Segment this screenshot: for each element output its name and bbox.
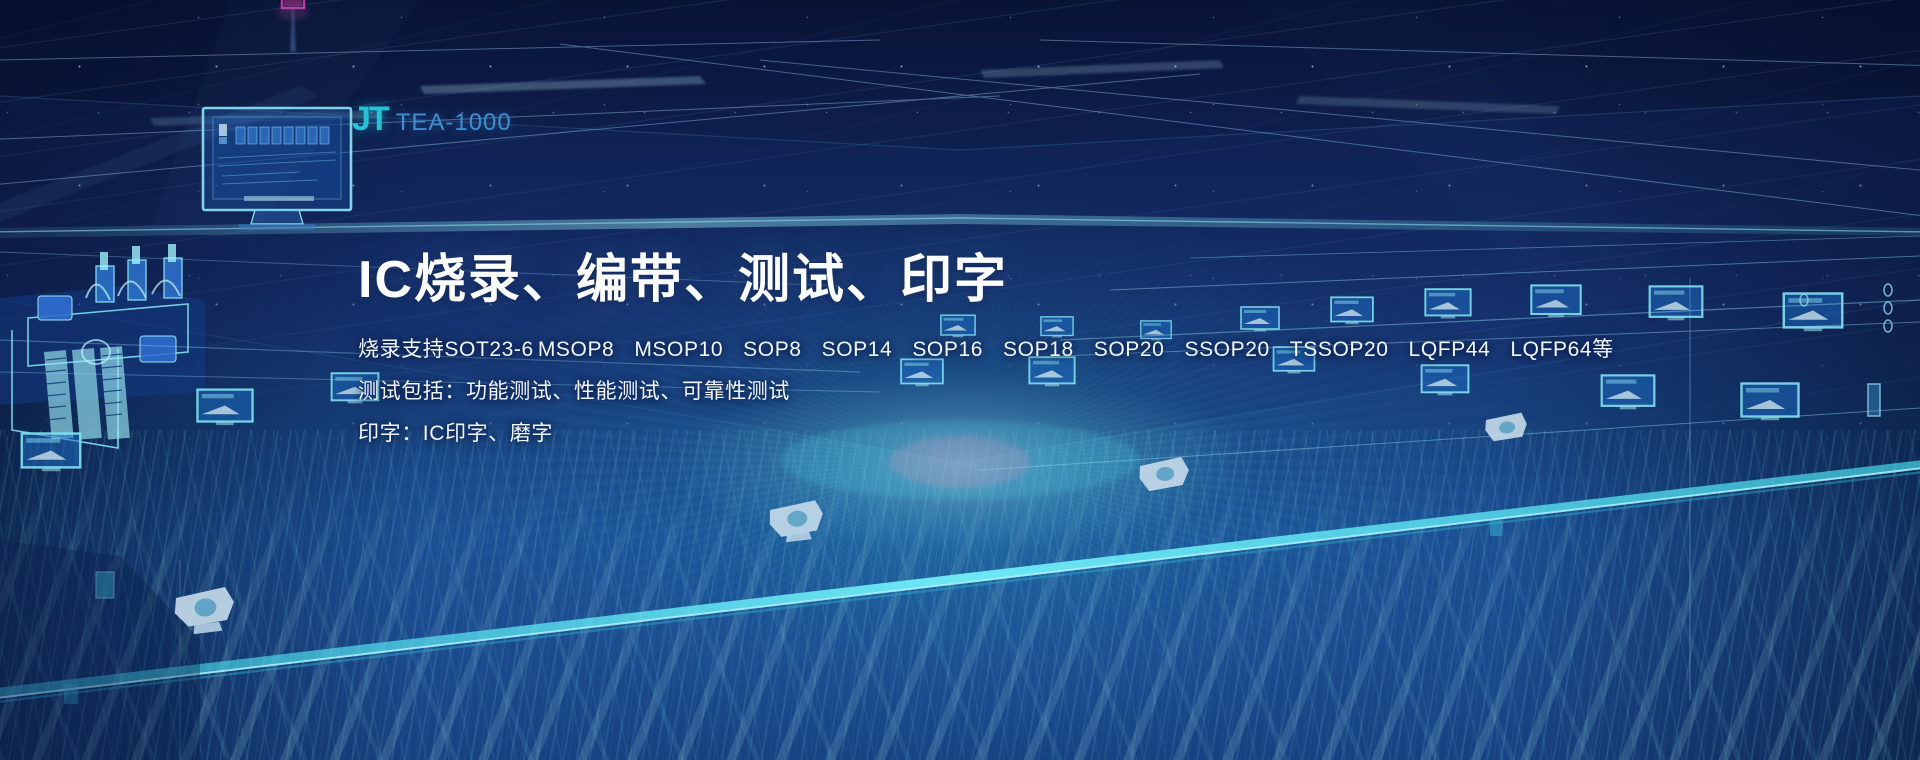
subtitle-list: 烧录支持SOT23-6MSOP8MSOP10SOP8SOP14SOP16SOP1… xyxy=(358,339,1758,444)
page-title: IC烧录、编带、测试、印字 xyxy=(358,250,1758,311)
package-ssop20: SSOP20 xyxy=(1184,339,1269,360)
burn-lead-text: 烧录支持SOT23-6 xyxy=(358,339,534,360)
package-msop10: MSOP10 xyxy=(634,339,723,360)
package-lqfp44: LQFP44 xyxy=(1409,339,1491,360)
banner-content: IC烧录、编带、测试、印字 烧录支持SOT23-6MSOP8MSOP10SOP8… xyxy=(358,250,1758,444)
package-sop16: SOP16 xyxy=(912,339,983,360)
package-sop14: SOP14 xyxy=(822,339,893,360)
subtitle-burn-line: 烧录支持SOT23-6MSOP8MSOP10SOP8SOP14SOP16SOP1… xyxy=(358,339,1758,360)
package-tssop20: TSSOP20 xyxy=(1290,339,1389,360)
package-msop8: MSOP8 xyxy=(538,339,615,360)
package-lqfp64: LQFP64等 xyxy=(1510,339,1613,360)
logo-model-text: TEA-1000 xyxy=(396,109,512,137)
package-sop8: SOP8 xyxy=(743,339,801,360)
package-sop18: SOP18 xyxy=(1003,339,1074,360)
package-sop20: SOP20 xyxy=(1094,339,1165,360)
logo-mark-text: JT xyxy=(352,100,388,139)
hero-banner: JT TEA-1000 IC烧录、编带、测试、印字 烧录支持SOT23-6MSO… xyxy=(0,0,1920,760)
subtitle-marking-line: 印字：IC印字、磨字 xyxy=(358,423,1758,444)
brand-logo: JT TEA-1000 xyxy=(352,100,512,139)
subtitle-test-line: 测试包括：功能测试、性能测试、可靠性测试 xyxy=(358,381,1758,402)
